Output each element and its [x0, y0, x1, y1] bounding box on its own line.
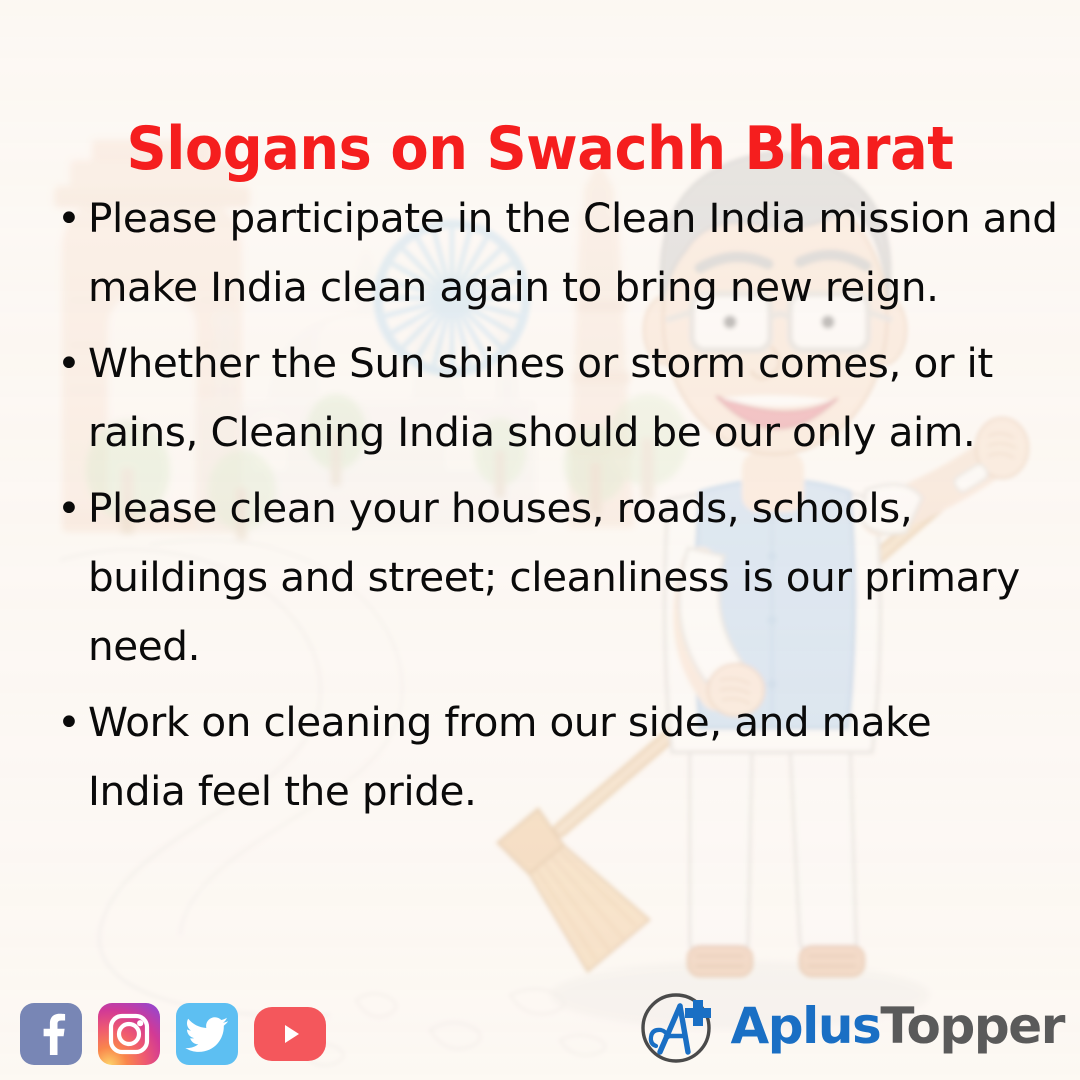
logo-wordmark: AplusTopper	[730, 1001, 1064, 1051]
list-item: • Whether the Sun shines or storm comes,…	[46, 329, 1080, 467]
list-item: • Please participate in the Clean India …	[46, 184, 1063, 322]
youtube-icon[interactable]	[254, 1007, 326, 1061]
bullet-marker: •	[57, 184, 81, 253]
aplus-logo-mark	[636, 984, 720, 1068]
slogan-text: Please clean your houses, roads, schools…	[88, 474, 1080, 681]
list-item: • Please clean your houses, roads, schoo…	[46, 474, 1080, 681]
bullet-marker: •	[57, 474, 81, 543]
instagram-icon[interactable]	[98, 1003, 160, 1065]
logo-name-secondary: Topper	[880, 997, 1064, 1055]
slogan-list: • Please participate in the Clean India …	[46, 184, 1046, 833]
bullet-marker: •	[57, 688, 81, 757]
twitter-icon[interactable]	[176, 1003, 238, 1065]
facebook-icon[interactable]	[20, 1003, 82, 1065]
slogan-text: Work on cleaning from our side, and make…	[88, 688, 1008, 826]
social-links	[20, 1003, 326, 1065]
bullet-marker: •	[57, 329, 81, 398]
logo-name-primary: Aplus	[730, 997, 880, 1055]
list-item: • Work on cleaning from our side, and ma…	[46, 688, 1008, 826]
page-title: Slogans on Swachh Bharat	[38, 114, 1042, 184]
aplustopper-logo[interactable]: AplusTopper	[636, 984, 1064, 1068]
slogan-text: Whether the Sun shines or storm comes, o…	[88, 329, 1080, 467]
slogan-text: Please participate in the Clean India mi…	[88, 184, 1063, 322]
poster-canvas: Slogans on Swachh Bharat • Please partic…	[0, 0, 1080, 1080]
